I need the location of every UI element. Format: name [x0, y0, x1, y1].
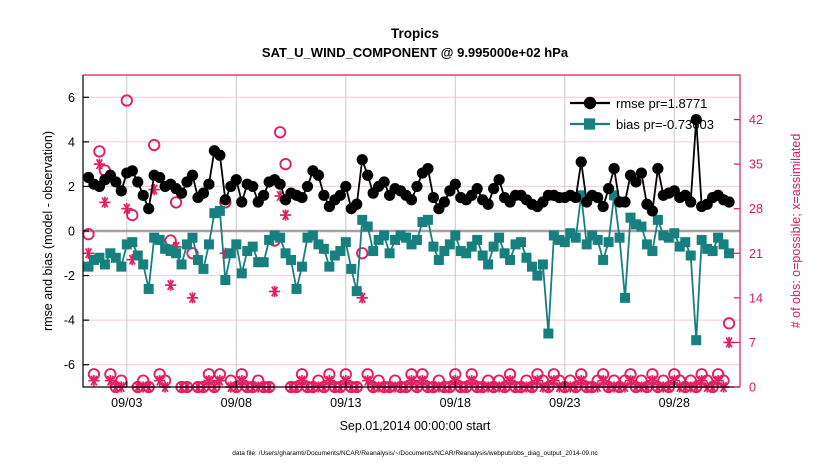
rmse-marker	[379, 176, 390, 187]
y-tick-label-left: -4	[64, 314, 75, 328]
rmse-marker	[570, 192, 581, 203]
bias-marker	[155, 235, 165, 245]
bias-marker	[319, 244, 329, 254]
bias-marker	[138, 259, 148, 269]
bias-marker	[127, 237, 137, 247]
bias-marker	[598, 255, 608, 265]
rmse-marker	[318, 190, 329, 201]
bias-marker	[275, 233, 285, 243]
bias-marker	[680, 237, 690, 247]
y-tick-label-right: 0	[749, 381, 756, 395]
y-tick-label-left: 0	[68, 225, 75, 239]
bias-marker	[177, 259, 187, 269]
bias-marker	[582, 239, 592, 249]
rmse-marker	[127, 165, 138, 176]
y-tick-label-right: 7	[749, 336, 756, 350]
bias-marker	[593, 235, 603, 245]
rmse-marker	[340, 181, 351, 192]
bias-marker	[445, 239, 455, 249]
rmse-marker	[652, 163, 663, 174]
bias-marker	[286, 255, 296, 265]
bias-marker	[571, 233, 581, 243]
bias-marker	[604, 237, 614, 247]
bias-marker	[615, 233, 625, 243]
bias-marker	[237, 268, 247, 278]
bias-marker	[324, 262, 334, 272]
rmse-marker	[132, 176, 143, 187]
rmse-marker	[598, 201, 609, 212]
obs-diagnostics-figure: Tropics SAT_U_WIND_COMPONENT @ 9.995000e…	[0, 0, 830, 470]
bias-marker	[363, 222, 373, 232]
bias-marker	[248, 242, 258, 252]
rmse-marker	[422, 163, 433, 174]
bias-marker	[412, 235, 422, 245]
legend-label: bias pr=-0.73603	[616, 117, 714, 132]
x-tick-label: 09/23	[549, 396, 580, 410]
bias-marker	[111, 253, 121, 263]
bias-marker	[708, 246, 718, 256]
y-tick-label-left: 4	[68, 135, 75, 149]
x-tick-label: 09/08	[221, 396, 252, 410]
rmse-marker	[176, 188, 187, 199]
bias-marker	[494, 233, 504, 243]
bias-marker	[198, 264, 208, 274]
rmse-marker	[636, 167, 647, 178]
bias-marker	[193, 255, 203, 265]
bias-marker	[352, 286, 362, 296]
bias-marker	[538, 259, 548, 269]
y-tick-label-left: -2	[64, 269, 75, 283]
rmse-marker	[313, 170, 324, 181]
bias-marker	[100, 259, 110, 269]
bias-marker	[434, 255, 444, 265]
rmse-marker	[143, 203, 154, 214]
bias-marker	[368, 246, 378, 256]
x-axis-label: Sep.01,2014 00:00:00 start	[340, 419, 491, 433]
rmse-marker	[187, 170, 198, 181]
rmse-marker	[231, 174, 242, 185]
rmse-marker	[116, 185, 127, 196]
bias-marker	[505, 255, 515, 265]
bias-marker	[215, 206, 225, 216]
legend-label: rmse pr=1.8771	[616, 96, 707, 111]
bias-marker	[308, 230, 318, 240]
y-tick-label-left: 2	[68, 180, 75, 194]
legend-circle-icon	[584, 97, 596, 109]
rmse-marker	[428, 192, 439, 203]
bias-marker	[423, 215, 433, 225]
bias-marker	[478, 251, 488, 261]
bias-marker	[719, 239, 729, 249]
bias-marker	[620, 293, 630, 303]
bias-marker	[543, 329, 553, 339]
bias-marker	[450, 230, 460, 240]
y-axis-label-right: # of obs: o=possible; x=assimilated	[789, 134, 803, 329]
rmse-marker	[483, 199, 494, 210]
rmse-marker	[685, 196, 696, 207]
figure-title-variable: SAT_U_WIND_COMPONENT @ 9.995000e+02 hPa	[262, 45, 569, 60]
bias-marker	[483, 259, 493, 269]
rmse-marker	[357, 154, 368, 165]
rmse-marker	[236, 196, 247, 207]
bias-marker	[346, 264, 356, 274]
bias-marker	[259, 257, 269, 267]
rmse-marker	[647, 205, 658, 216]
x-tick-label: 09/18	[440, 396, 471, 410]
rmse-marker	[406, 194, 417, 205]
bias-marker	[636, 222, 646, 232]
bias-marker	[116, 262, 126, 272]
y-axis-label-left: rmse and bias (model - observation)	[41, 131, 55, 331]
legend-entry-rmse[interactable]: rmse pr=1.8771	[570, 96, 707, 111]
data-file-path: data file: /Users/gharamti/Documents/NCA…	[232, 450, 598, 457]
x-tick-label: 09/13	[330, 396, 361, 410]
y-tick-label-right: 14	[749, 291, 763, 305]
bias-marker	[341, 237, 351, 247]
bias-marker	[686, 251, 696, 261]
rmse-marker	[576, 156, 587, 167]
rmse-marker	[472, 183, 483, 194]
rmse-marker	[220, 194, 231, 205]
rmse-marker	[723, 196, 734, 207]
bias-marker	[231, 239, 241, 249]
bias-marker	[385, 248, 395, 258]
bias-marker	[489, 242, 499, 252]
rmse-marker	[302, 181, 313, 192]
rmse-marker	[619, 196, 630, 207]
bias-marker	[144, 284, 154, 294]
figure-title-region: Tropics	[391, 26, 439, 41]
bias-marker	[724, 248, 734, 258]
rmse-marker	[138, 190, 149, 201]
rmse-marker	[494, 174, 505, 185]
bias-marker	[669, 228, 679, 238]
bias-marker	[521, 253, 531, 263]
bias-marker	[653, 215, 663, 225]
bias-marker	[428, 242, 438, 252]
bias-marker	[697, 235, 707, 245]
bias-marker	[297, 262, 307, 272]
bias-marker	[527, 262, 537, 272]
y-tick-label-left: -6	[64, 358, 75, 372]
bias-marker	[171, 248, 181, 258]
legend-square-icon	[584, 118, 595, 129]
bias-marker	[226, 248, 236, 258]
bias-marker	[220, 275, 230, 285]
bias-marker	[204, 239, 214, 249]
x-tick-label: 09/03	[111, 396, 142, 410]
rmse-marker	[411, 181, 422, 192]
rmse-marker	[351, 199, 362, 210]
bias-marker	[647, 246, 657, 256]
bias-marker	[560, 237, 570, 247]
bias-marker	[335, 246, 345, 256]
rmse-marker	[450, 179, 461, 190]
rmse-marker	[258, 190, 269, 201]
rmse-marker	[214, 150, 225, 161]
y-tick-label-right: 28	[749, 202, 763, 216]
x-tick-label: 09/28	[659, 396, 690, 410]
y-tick-label-right: 35	[749, 158, 763, 172]
bias-marker	[472, 235, 482, 245]
bias-marker	[379, 230, 389, 240]
bias-marker	[188, 233, 198, 243]
rmse-marker	[203, 179, 214, 190]
y-tick-label-left: 6	[68, 91, 75, 105]
bias-marker	[532, 271, 542, 281]
rmse-marker	[247, 181, 258, 192]
bias-marker	[292, 284, 302, 294]
rmse-marker	[362, 170, 373, 181]
bias-marker	[691, 335, 701, 345]
y-tick-label-right: 21	[749, 247, 763, 261]
rmse-marker	[608, 163, 619, 174]
rmse-marker	[603, 183, 614, 194]
rmse-marker	[275, 179, 286, 190]
y-tick-label-right: 42	[749, 113, 763, 127]
rmse-marker	[439, 196, 450, 207]
bias-marker	[516, 237, 526, 247]
bias-marker	[133, 251, 143, 261]
rmse-marker	[296, 192, 307, 203]
